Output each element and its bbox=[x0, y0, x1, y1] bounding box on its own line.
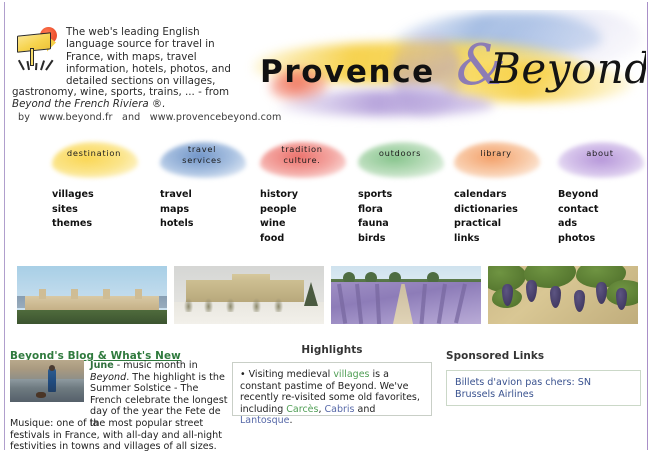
nav-links-travel-services: travel maps hotels bbox=[160, 188, 194, 232]
lavender-field-photo[interactable] bbox=[331, 266, 481, 324]
nav-link-wine[interactable]: wine bbox=[260, 217, 298, 232]
nav-link-ads[interactable]: ads bbox=[558, 217, 598, 232]
page-root: The web's leading English language sourc… bbox=[0, 0, 660, 450]
nav-link-travel[interactable]: travel bbox=[160, 188, 194, 203]
site-title-provence: Provence bbox=[260, 54, 435, 90]
nav-link-beyond[interactable]: Beyond bbox=[558, 188, 598, 203]
main-navigation: destination villages sites themes travel… bbox=[6, 140, 646, 252]
nav-link-sports[interactable]: sports bbox=[358, 188, 392, 203]
highlights-text-a: Visiting medieval bbox=[249, 369, 334, 380]
site-blurb: The web's leading English language sourc… bbox=[66, 26, 246, 87]
blurb-line-4: information, hotels, photos, and bbox=[66, 63, 246, 75]
site-header: The web's leading English language sourc… bbox=[6, 4, 646, 132]
nav-links-tradition-culture: history people wine food bbox=[260, 188, 298, 246]
highlights-link-villages[interactable]: villages bbox=[333, 369, 369, 380]
highlights-link-lantosque[interactable]: Lantosque bbox=[240, 415, 290, 426]
nav-link-history[interactable]: history bbox=[260, 188, 298, 203]
nav-blob-label-tradition-culture[interactable]: tradition culture. bbox=[256, 144, 348, 166]
blog-text-italic: Beyond bbox=[90, 372, 126, 383]
nav-link-practical[interactable]: practical bbox=[454, 217, 518, 232]
grape-vine-photo[interactable] bbox=[488, 266, 638, 324]
grass-tufts bbox=[20, 58, 50, 70]
highlights-text-e: . bbox=[290, 415, 293, 426]
nav-blob-label-library[interactable]: library bbox=[450, 148, 542, 159]
nav-link-villages[interactable]: villages bbox=[52, 188, 94, 203]
highlights-section: Highlights • Visiting medieval villages … bbox=[232, 344, 432, 416]
snowy-village-photo[interactable] bbox=[174, 266, 324, 324]
blog-thumbnail[interactable] bbox=[10, 360, 84, 402]
nav-blob-label-outdoors-line1: outdoors bbox=[354, 148, 446, 159]
nav-blob-label-about[interactable]: about bbox=[554, 148, 646, 159]
signpost-board bbox=[17, 32, 51, 53]
byline-link-beyond-fr[interactable]: www.beyond.fr bbox=[39, 112, 112, 123]
nav-blob-label-library-line1: library bbox=[450, 148, 542, 159]
nav-links-about: Beyond contact ads photos bbox=[558, 188, 598, 246]
nav-blob-label-travel-services[interactable]: travel services bbox=[156, 144, 248, 166]
sponsored-ad-box: Billets d'avion pas chers: SN Brussels A… bbox=[446, 370, 641, 406]
nav-link-hotels[interactable]: hotels bbox=[160, 217, 194, 232]
site-title-beyond: Beyond bbox=[490, 44, 646, 93]
nav-blob-label-about-line1: about bbox=[554, 148, 646, 159]
blurb-line-1: The web's leading English bbox=[66, 26, 246, 38]
highlights-title: Highlights bbox=[232, 344, 432, 356]
nav-blob-label-destination-line1: destination bbox=[48, 148, 140, 159]
nav-link-links[interactable]: links bbox=[454, 232, 518, 247]
nav-link-fauna[interactable]: fauna bbox=[358, 217, 392, 232]
nav-blob-label-culture: culture. bbox=[256, 155, 348, 166]
blurb-line-2: language source for travel in bbox=[66, 38, 246, 50]
blurb-wide-block: gastronomy, wine, sports, trains, ... - … bbox=[12, 86, 248, 111]
blurb-wide-line-1: gastronomy, wine, sports, trains, ... - … bbox=[12, 86, 248, 98]
nav-link-birds[interactable]: birds bbox=[358, 232, 392, 247]
nav-blob-label-tradition: tradition bbox=[256, 144, 348, 155]
page-border-top bbox=[4, 0, 648, 2]
byline-and: and bbox=[122, 112, 140, 123]
blurb-wide-line-2: Beyond the French Riviera ®. bbox=[12, 98, 165, 110]
byline-prefix: by bbox=[18, 112, 30, 123]
nav-link-sites[interactable]: sites bbox=[52, 203, 94, 218]
nav-link-photos[interactable]: photos bbox=[558, 232, 598, 247]
photo-strip bbox=[17, 266, 637, 324]
blog-text-wide: Musique: one of the most popular street … bbox=[10, 418, 228, 453]
highlights-link-cabris[interactable]: Cabris bbox=[325, 404, 355, 415]
nav-link-themes[interactable]: themes bbox=[52, 217, 94, 232]
signpost-sun-icon bbox=[16, 26, 62, 70]
nav-links-outdoors: sports flora fauna birds bbox=[358, 188, 392, 246]
highlights-text-d: and bbox=[355, 404, 376, 415]
blog-month: June bbox=[90, 360, 114, 371]
highlights-bullet: • bbox=[240, 369, 246, 380]
nav-links-destination: villages sites themes bbox=[52, 188, 94, 232]
nav-link-flora[interactable]: flora bbox=[358, 203, 392, 218]
nav-link-people[interactable]: people bbox=[260, 203, 298, 218]
nav-link-maps[interactable]: maps bbox=[160, 203, 194, 218]
nav-blob-label-services: services bbox=[156, 155, 248, 166]
nav-blob-label-travel: travel bbox=[156, 144, 248, 155]
sponsored-links-title: Sponsored Links bbox=[446, 350, 544, 362]
page-border-right bbox=[647, 0, 648, 450]
sponsored-links-section: Sponsored Links Billets d'avion pas cher… bbox=[446, 344, 644, 406]
highlights-box: • Visiting medieval villages is a consta… bbox=[232, 362, 432, 416]
nav-links-library: calendars dictionaries practical links bbox=[454, 188, 518, 246]
blog-text-part1: - music month in bbox=[114, 360, 198, 371]
carcassonne-ramparts-photo[interactable] bbox=[17, 266, 167, 324]
nav-blob-label-outdoors[interactable]: outdoors bbox=[354, 148, 446, 159]
bottom-sections: Beyond's Blog & What's New June - music … bbox=[6, 344, 646, 448]
nav-link-contact[interactable]: contact bbox=[558, 203, 598, 218]
watercolor-banner: Provence & Beyond bbox=[242, 10, 646, 128]
nav-blob-label-destination[interactable]: destination bbox=[48, 148, 140, 159]
nav-link-dictionaries[interactable]: dictionaries bbox=[454, 203, 518, 218]
sponsored-ad-link[interactable]: Billets d'avion pas chers: SN Brussels A… bbox=[455, 377, 591, 400]
blog-section: Beyond's Blog & What's New June - music … bbox=[10, 344, 228, 363]
blurb-line-3: France, with maps, travel bbox=[66, 51, 246, 63]
nav-link-calendars[interactable]: calendars bbox=[454, 188, 518, 203]
highlights-link-carces[interactable]: Carcès bbox=[286, 404, 318, 415]
page-border-left bbox=[4, 0, 5, 450]
nav-link-food[interactable]: food bbox=[260, 232, 298, 247]
